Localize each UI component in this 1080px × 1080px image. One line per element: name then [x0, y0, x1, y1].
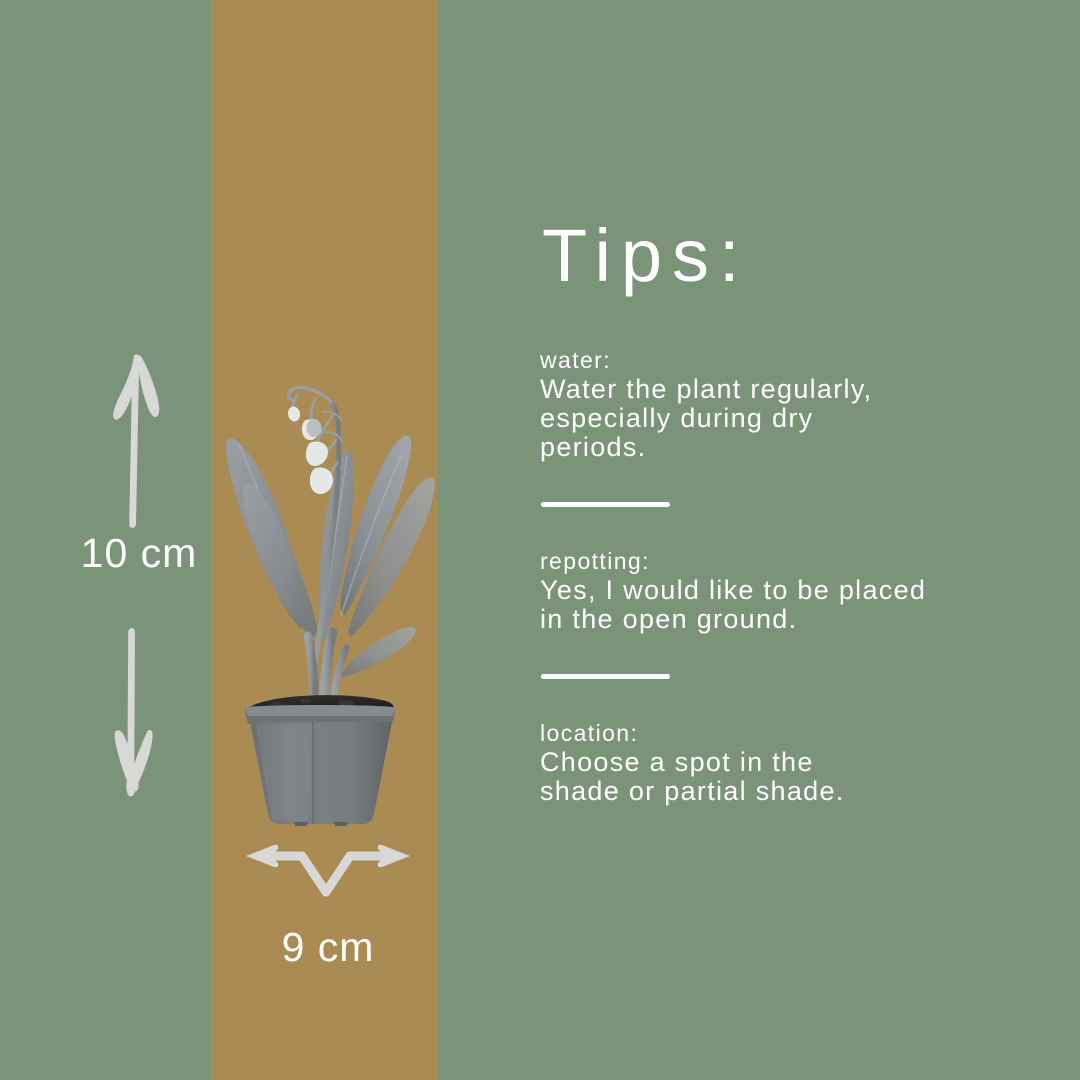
tip-body-repotting: Yes, I would like to be placed in the op… — [540, 576, 1020, 634]
tip-label-location: location: — [540, 719, 1020, 748]
tip-body-location: Choose a spot in the shade or partial sh… — [540, 748, 1020, 806]
tip-item-water: water: Water the plant regularly, especi… — [540, 346, 1020, 462]
width-measurement-label: 9 cm — [238, 922, 418, 972]
tip-item-location: location: Choose a spot in the shade or … — [540, 719, 1020, 806]
tips-heading: Tips: — [542, 214, 1020, 298]
tip-body-water: Water the plant regularly, especially du… — [540, 375, 1020, 462]
tip-divider-1 — [541, 502, 670, 507]
tips-panel: Tips: water: Water the plant regularly, … — [540, 214, 1020, 806]
width-arrow-icon — [238, 838, 418, 900]
tip-divider-2 — [541, 674, 670, 679]
tip-label-repotting: repotting: — [540, 547, 1020, 576]
potted-plant-illustration — [186, 336, 454, 826]
height-arrow-icon — [96, 342, 180, 814]
tip-label-water: water: — [540, 346, 1020, 375]
tip-item-repotting: repotting: Yes, I would like to be place… — [540, 547, 1020, 634]
poster-canvas: 10 cm — [0, 0, 1080, 1080]
